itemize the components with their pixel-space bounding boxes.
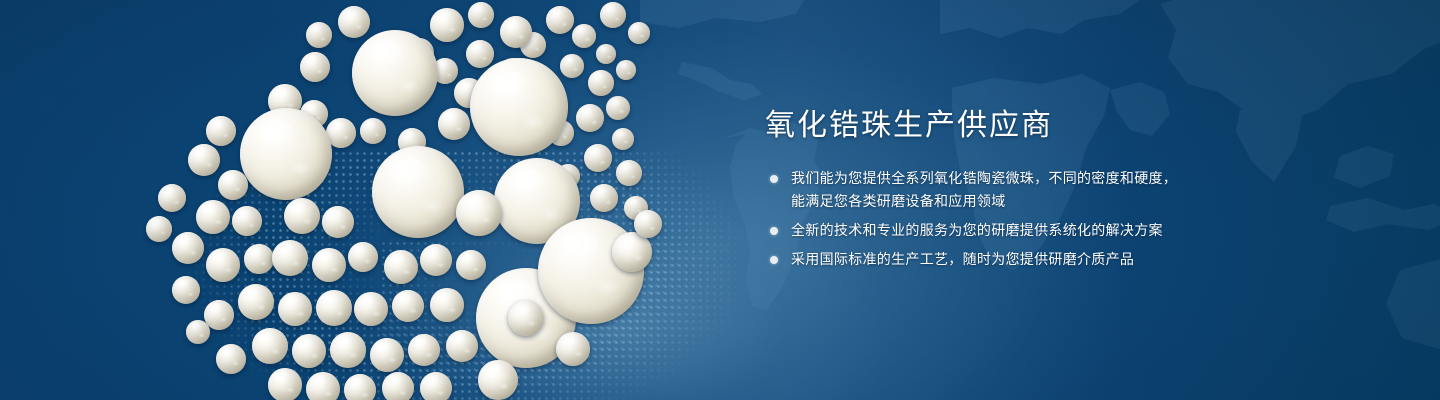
list-item: 我们能为您提供全系列氧化锆陶瓷微珠，不同的密度和硬度， 能满足您各类研磨设备和应… xyxy=(765,168,1385,214)
bullet-line-2: 能满足您各类研磨设备和应用领域 xyxy=(791,191,1385,214)
list-item: 采用国际标准的生产工艺，随时为您提供研磨介质产品 xyxy=(765,249,1385,272)
bullet-dot-icon xyxy=(770,175,778,183)
bullet-line-1: 采用国际标准的生产工艺，随时为您提供研磨介质产品 xyxy=(791,252,1134,268)
feature-bullet-list: 我们能为您提供全系列氧化锆陶瓷微珠，不同的密度和硬度， 能满足您各类研磨设备和应… xyxy=(765,168,1385,278)
bullet-text: 全新的技术和专业的服务为您的研磨提供系统化的解决方案 xyxy=(791,223,1163,239)
bullet-line-1: 我们能为您提供全系列氧化锆陶瓷微珠，不同的密度和硬度， xyxy=(791,171,1177,187)
banner-copy-block: 氧化锆珠生产供应商 我们能为您提供全系列氧化锆陶瓷微珠，不同的密度和硬度， 能满… xyxy=(765,0,1385,400)
bullet-line-1: 全新的技术和专业的服务为您的研磨提供系统化的解决方案 xyxy=(791,223,1163,239)
page-title: 氧化锆珠生产供应商 xyxy=(765,108,1053,144)
hero-banner: 氧化锆珠生产供应商 我们能为您提供全系列氧化锆陶瓷微珠，不同的密度和硬度， 能满… xyxy=(0,0,1440,400)
list-item: 全新的技术和专业的服务为您的研磨提供系统化的解决方案 xyxy=(765,220,1385,243)
bullet-dot-icon xyxy=(770,227,778,235)
bullet-text: 采用国际标准的生产工艺，随时为您提供研磨介质产品 xyxy=(791,252,1134,268)
bullet-dot-icon xyxy=(770,256,778,264)
bullet-text: 我们能为您提供全系列氧化锆陶瓷微珠，不同的密度和硬度， 能满足您各类研磨设备和应… xyxy=(791,171,1385,214)
